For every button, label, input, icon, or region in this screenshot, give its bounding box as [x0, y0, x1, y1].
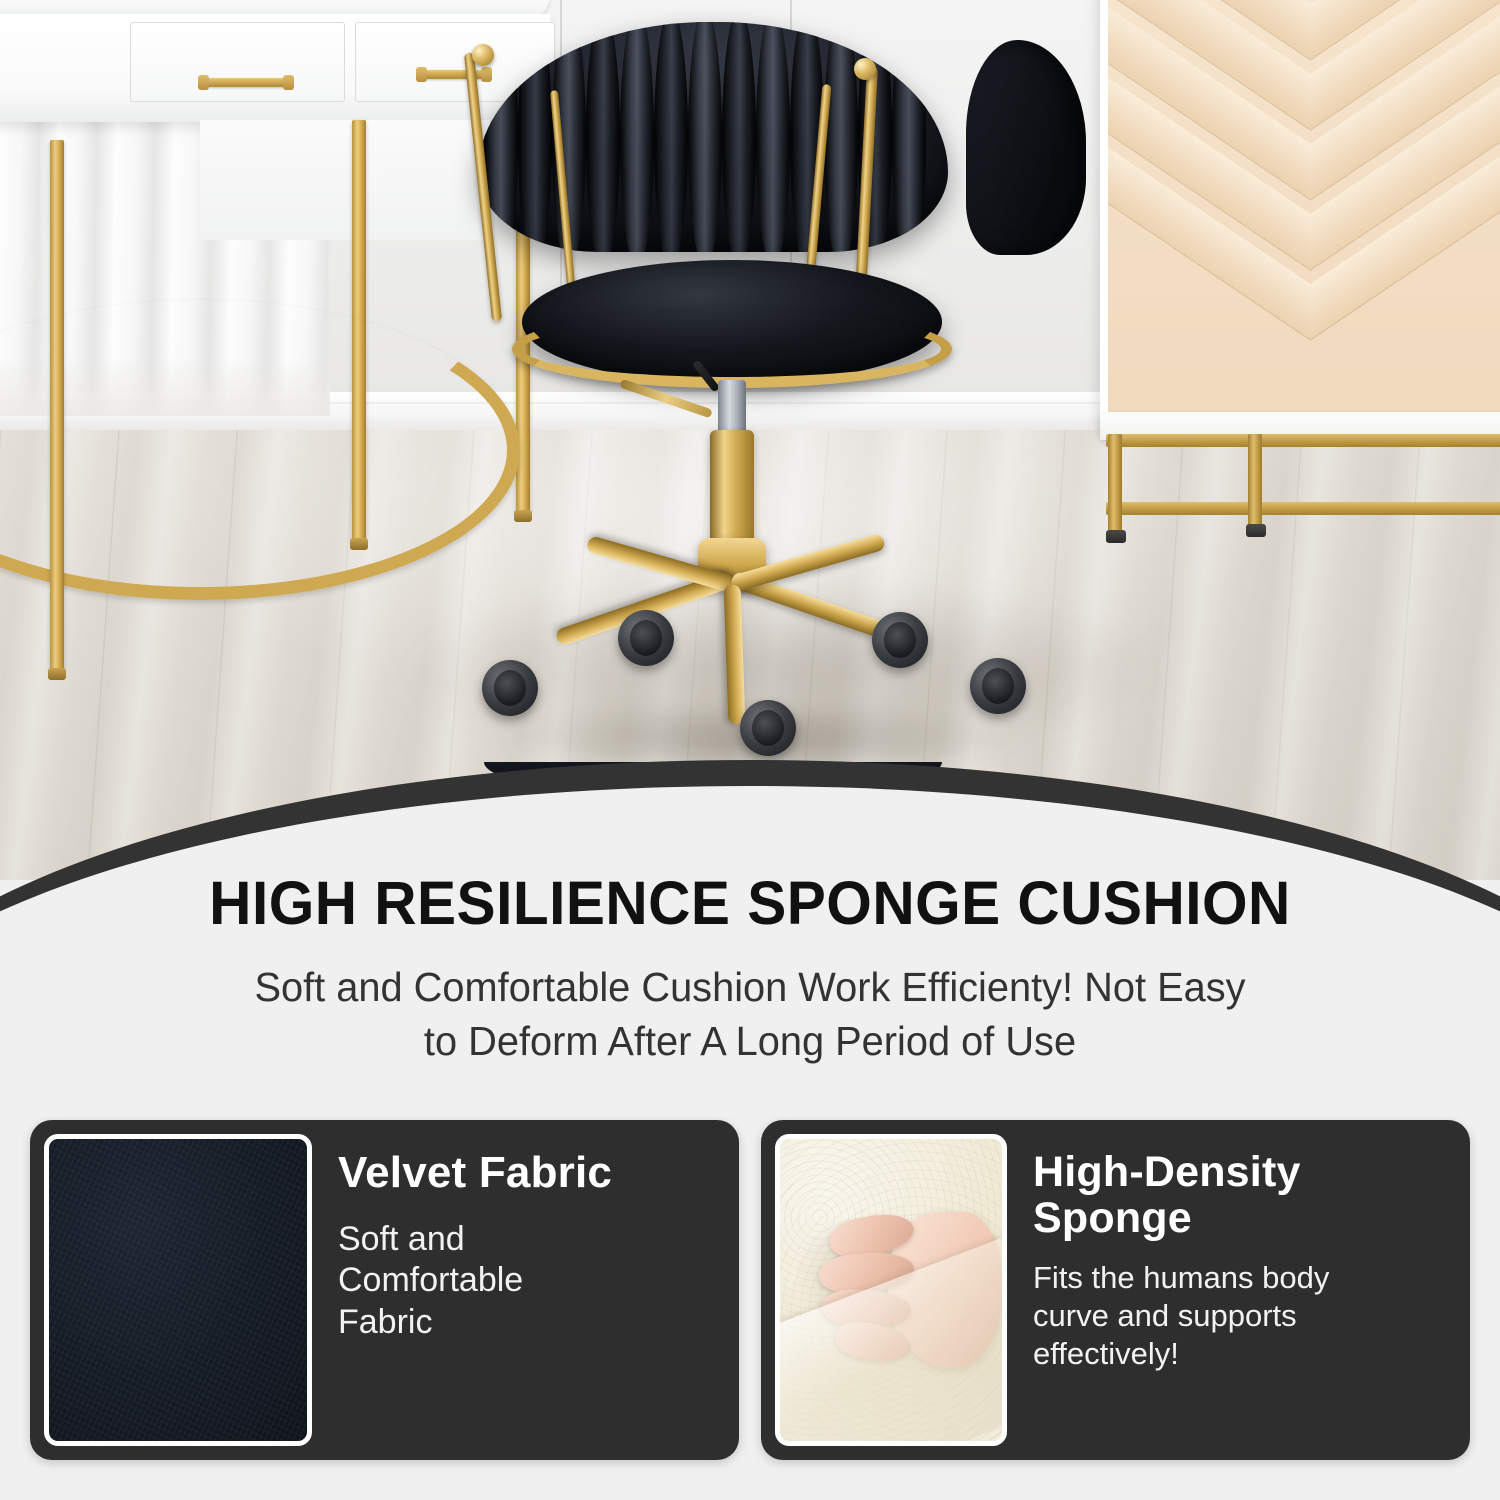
cabinet-gold-frame-rail — [1106, 502, 1500, 515]
card-text-block: High-Density Sponge Fits the humans body… — [1007, 1134, 1456, 1446]
subheading-line-1: Soft and Comfortable Cushion Work Effici… — [129, 960, 1371, 1014]
chevron-right-half — [1310, 0, 1500, 412]
card-body-line-2: curve and supports — [1033, 1297, 1446, 1335]
chair-rod-knob — [854, 58, 876, 80]
card-body-line-2: Comfortable — [338, 1260, 715, 1301]
feature-card-list: Velvet Fabric Soft and Comfortable Fabri… — [30, 1120, 1470, 1460]
chair-backrest-side — [966, 40, 1086, 255]
cabinet-foot — [1106, 530, 1126, 543]
chair-woven-backrest — [478, 22, 948, 252]
chair-caster-wheel — [740, 700, 796, 756]
chair-rod-knob — [472, 44, 494, 66]
chevron-wood-cabinet — [1100, 0, 1500, 430]
cabinet-chevron-door — [1108, 0, 1500, 412]
card-title: Velvet Fabric — [338, 1150, 715, 1197]
chair-caster-wheel — [618, 610, 674, 666]
black-velvet-fabric-swatch — [44, 1134, 312, 1446]
chair-caster-wheel — [970, 658, 1026, 714]
chevron-left-half — [1108, 0, 1310, 412]
desk-gold-leg — [50, 140, 64, 670]
office-chair — [440, 10, 1080, 790]
feature-card-high-density-sponge[interactable]: High-Density Sponge Fits the humans body… — [761, 1120, 1470, 1460]
chair-caster-wheel — [872, 612, 928, 668]
card-title: High-Density Sponge — [1033, 1150, 1446, 1241]
card-body-line-1: Soft and — [338, 1219, 715, 1260]
card-body: Soft and Comfortable Fabric — [338, 1219, 715, 1343]
chair-caster-wheel — [482, 660, 538, 716]
card-body-line-3: effectively! — [1033, 1335, 1446, 1373]
page-title: HIGH RESILIENCE SPONGE CUSHION — [30, 868, 1470, 938]
banner-content: HIGH RESILIENCE SPONGE CUSHION Soft and … — [0, 820, 1500, 1500]
hero-product-photo — [0, 0, 1500, 880]
card-title-line-2: Sponge — [1033, 1196, 1446, 1242]
cabinet-gold-frame-post — [1248, 434, 1262, 530]
desk-drawer — [130, 22, 345, 102]
card-text-block: Velvet Fabric Soft and Comfortable Fabri… — [312, 1134, 725, 1446]
cabinet-foot — [1246, 524, 1266, 537]
card-body-line-1: Fits the humans body — [1033, 1259, 1446, 1297]
card-title-line-1: High-Density — [1033, 1150, 1446, 1196]
card-body-line-3: Fabric — [338, 1302, 715, 1343]
cabinet-gold-frame-post — [1108, 434, 1122, 536]
gold-drawer-handle — [200, 78, 292, 87]
desk-leg-foot — [48, 668, 66, 680]
chair-base-spoke — [724, 584, 746, 725]
feature-card-velvet-fabric[interactable]: Velvet Fabric Soft and Comfortable Fabri… — [30, 1120, 739, 1460]
banner-subheading: Soft and Comfortable Cushion Work Effici… — [129, 960, 1371, 1068]
chair-seat-gold-trim-ring — [512, 310, 952, 388]
cabinet-gold-frame-rail — [1106, 434, 1500, 447]
card-body: Fits the humans body curve and supports … — [1033, 1259, 1446, 1372]
product-infographic: HIGH RESILIENCE SPONGE CUSHION Soft and … — [0, 0, 1500, 1500]
subheading-line-2: to Deform After A Long Period of Use — [129, 1014, 1371, 1068]
hand-pressing-foam-swatch — [775, 1134, 1007, 1446]
